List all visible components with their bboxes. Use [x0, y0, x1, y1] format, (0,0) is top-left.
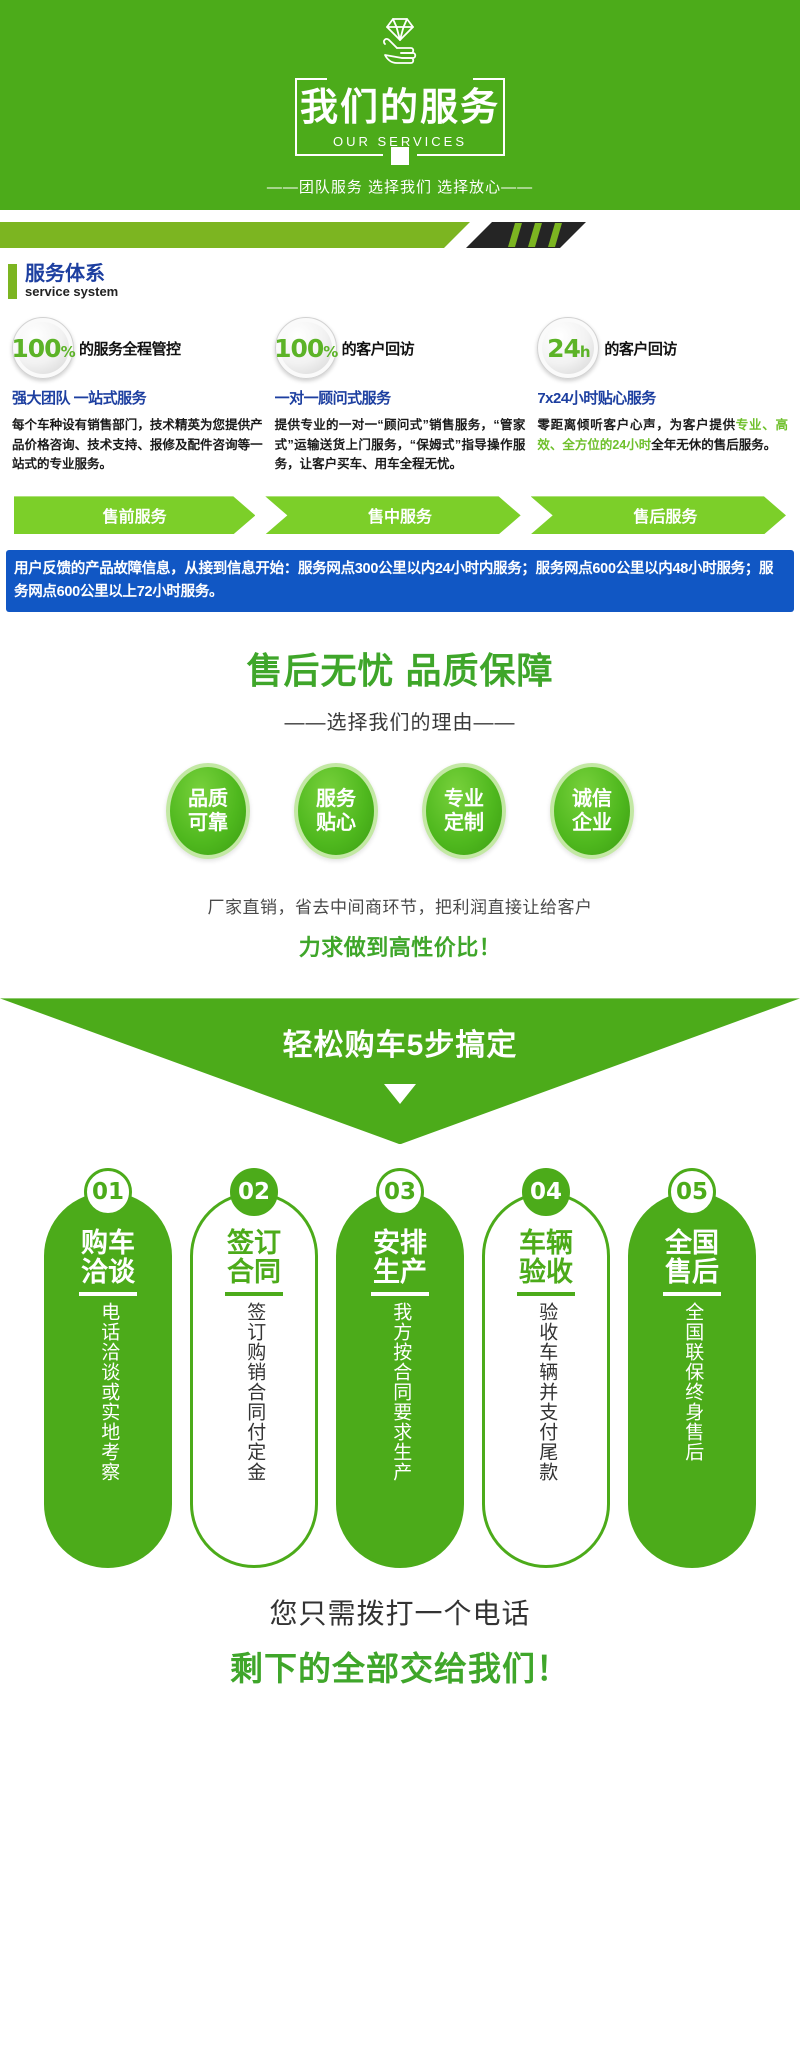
reason-line1: 专业 — [444, 787, 484, 811]
big-arrow-text: 轻松购车5步搞定 — [283, 1020, 518, 1064]
hero-title: 我们的服务 — [300, 89, 500, 127]
down-triangle-icon — [384, 1084, 416, 1104]
step-number-badge: 05 — [668, 1168, 716, 1216]
badge-column: 24h 的客户回访 7x24小时贴心服务 零距离倾听客户心声，为客户提供专业、高… — [531, 315, 794, 474]
section-decoration-bar — [0, 216, 800, 262]
badge-unit: % — [61, 343, 75, 361]
section-title-cn: 服务体系 — [25, 264, 118, 285]
badge-number: 24 — [547, 334, 580, 363]
badge-body-post: 全年无休的售后服务。 — [651, 438, 776, 452]
badge-label: 的客户回访 — [604, 338, 677, 359]
badge-body: 每个车种设有销售部门，技术精英为您提供产品价格咨询、技术支持、报修及配件咨询等一… — [12, 416, 263, 474]
section-accent — [8, 264, 17, 299]
step-card-02[interactable]: 02 签订合同 签订购销合同付定金 — [190, 1168, 318, 1568]
service-badges: 100% 的服务全程管控 强大团队 一站式服务 每个车种设有销售部门，技术精英为… — [0, 315, 800, 474]
step-body: 安排生产 我方按合同要求生产 — [336, 1192, 464, 1568]
diamond-hand-icon — [373, 14, 427, 74]
badge-body: 零距离倾听客户心声，为客户提供专业、高效、全方位的24小时全年无休的售后服务。 — [537, 416, 788, 455]
badge-head: 100% 的客户回访 — [275, 315, 526, 381]
step-number-badge: 03 — [376, 1168, 424, 1216]
reason-line1: 诚信 — [572, 787, 612, 811]
footer-line-1: 您只需拨打一个电话 — [0, 1592, 800, 1632]
badge-label: 的客户回访 — [342, 338, 415, 359]
reason-line1: 服务 — [316, 787, 356, 811]
badge-column: 100% 的服务全程管控 强大团队 一站式服务 每个车种设有销售部门，技术精英为… — [6, 315, 269, 474]
step-number-badge: 01 — [84, 1168, 132, 1216]
reason-circle: 诚信 企业 — [550, 763, 634, 859]
step-divider — [663, 1292, 721, 1296]
step-card-03[interactable]: 03 安排生产 我方按合同要求生产 — [336, 1168, 464, 1568]
service-stage-chevrons: 售前服务 售中服务 售后服务 — [0, 496, 800, 534]
step-divider — [225, 1292, 283, 1296]
chevron-during-sale[interactable]: 售中服务 — [265, 496, 520, 534]
footer-cta: 您只需拨打一个电话 剩下的全部交给我们！ — [0, 1592, 800, 1690]
step-name: 车辆验收 — [519, 1229, 573, 1286]
badge-number: 100 — [274, 334, 323, 363]
reason-line2: 贴心 — [316, 811, 356, 835]
step-description: 我方按合同要求生产 — [389, 1302, 411, 1538]
step-body: 车辆验收 验收车辆并支付尾款 — [482, 1192, 610, 1568]
step-name: 全国售后 — [665, 1229, 719, 1286]
percent-circle-icon: 100% — [275, 317, 337, 379]
service-notice-banner: 用户反馈的产品故障信息，从接到信息开始：服务网点300公里以内24小时内服务；服… — [6, 550, 794, 612]
badge-number: 100 — [11, 334, 60, 363]
step-description: 验收车辆并支付尾款 — [535, 1302, 557, 1538]
step-number-badge: 02 — [230, 1168, 278, 1216]
step-body: 签订合同 签订购销合同付定金 — [190, 1192, 318, 1568]
reason-circles: 品质 可靠 服务 贴心 专业 定制 诚信 企业 — [0, 763, 800, 859]
step-divider — [517, 1292, 575, 1296]
step-description: 全国联保终身售后 — [681, 1302, 703, 1538]
hours-circle-icon: 24h — [537, 317, 599, 379]
step-number-badge: 04 — [522, 1168, 570, 1216]
big-arrow-banner: 轻松购车5步搞定 — [0, 998, 800, 1146]
badge-body-pre: 零距离倾听客户心声，为客户提供 — [537, 418, 735, 432]
reasons-title: 售后无忧 品质保障 — [0, 642, 800, 694]
hero-tagline: ——团队服务 选择我们 选择放心—— — [267, 176, 533, 197]
footer-line-2: 剩下的全部交给我们！ — [0, 1642, 800, 1690]
promo-line-1: 厂家直销，省去中间商环节，把利润直接让给客户 — [0, 893, 800, 918]
badge-head: 100% 的服务全程管控 — [12, 315, 263, 381]
step-description: 签订购销合同付定金 — [243, 1302, 265, 1538]
step-body: 购车洽谈 电话洽谈或实地考察 — [44, 1192, 172, 1568]
badge-title: 强大团队 一站式服务 — [12, 387, 263, 408]
section-header: 服务体系 service system — [0, 264, 800, 299]
bar-dark — [466, 222, 586, 248]
hero-title-frame: 我们的服务 OUR SERVICES — [295, 78, 505, 156]
section-title-en: service system — [25, 285, 118, 299]
chevron-after-sale[interactable]: 售后服务 — [531, 496, 786, 534]
badge-body: 提供专业的一对一“顾问式”销售服务，“管家式”运输送货上门服务，“保姆式”指导操… — [275, 416, 526, 474]
step-card-05[interactable]: 05 全国售后 全国联保终身售后 — [628, 1168, 756, 1568]
promo-line-2: 力求做到高性价比！ — [0, 930, 800, 962]
step-name: 购车洽谈 — [81, 1229, 135, 1286]
reason-line1: 品质 — [188, 787, 228, 811]
reason-line2: 定制 — [444, 811, 484, 835]
step-name: 签订合同 — [227, 1229, 281, 1286]
big-arrow-shape: 轻松购车5步搞定 — [0, 998, 800, 1144]
step-card-01[interactable]: 01 购车洽谈 电话洽谈或实地考察 — [44, 1168, 172, 1568]
badge-unit: h — [580, 343, 590, 361]
badge-head: 24h 的客户回访 — [537, 315, 788, 381]
hero-banner: 我们的服务 OUR SERVICES ——团队服务 选择我们 选择放心—— — [0, 0, 800, 210]
bar-green — [0, 222, 470, 248]
badge-column: 100% 的客户回访 一对一顾问式服务 提供专业的一对一“顾问式”销售服务，“管… — [269, 315, 532, 474]
badge-unit: % — [323, 343, 337, 361]
reason-line2: 可靠 — [188, 811, 228, 835]
step-name: 安排生产 — [373, 1229, 427, 1286]
reason-circle: 专业 定制 — [422, 763, 506, 859]
step-description: 电话洽谈或实地考察 — [97, 1302, 119, 1538]
reason-circle: 服务 贴心 — [294, 763, 378, 859]
step-divider — [371, 1292, 429, 1296]
step-divider — [79, 1292, 137, 1296]
reasons-subtitle: ——选择我们的理由—— — [0, 706, 800, 735]
badge-label: 的服务全程管控 — [79, 338, 181, 359]
step-body: 全国售后 全国联保终身售后 — [628, 1192, 756, 1568]
percent-circle-icon: 100% — [12, 317, 74, 379]
badge-title: 一对一顾问式服务 — [275, 387, 526, 408]
step-card-04[interactable]: 04 车辆验收 验收车辆并支付尾款 — [482, 1168, 610, 1568]
reason-line2: 企业 — [572, 811, 612, 835]
badge-title: 7x24小时贴心服务 — [537, 387, 788, 408]
reason-circle: 品质 可靠 — [166, 763, 250, 859]
chevron-pre-sale[interactable]: 售前服务 — [14, 496, 255, 534]
purchase-steps: 01 购车洽谈 电话洽谈或实地考察 02 签订合同 签订购销合同付定金 03 安… — [0, 1168, 800, 1568]
